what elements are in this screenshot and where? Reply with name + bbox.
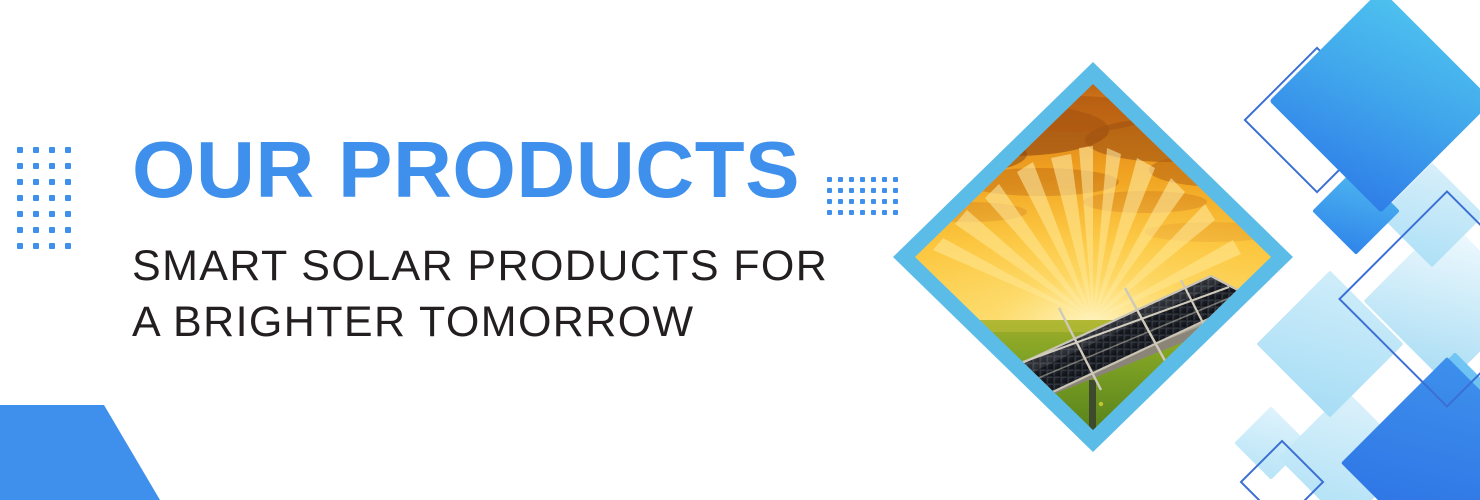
dot-icon (33, 227, 39, 233)
dot-icon (65, 163, 71, 169)
dot-icon (49, 243, 55, 249)
dot-icon (871, 177, 876, 182)
dot-icon (849, 210, 854, 215)
page-title: OUR PRODUCTS (132, 128, 842, 212)
dot-icon (871, 210, 876, 215)
dot-icon (860, 199, 865, 204)
dot-icon (33, 179, 39, 185)
dot-icon (65, 227, 71, 233)
dot-icon (871, 199, 876, 204)
dot-icon (882, 177, 887, 182)
dot-icon (49, 211, 55, 217)
dot-icon (65, 195, 71, 201)
dot-icon (860, 177, 865, 182)
dot-icon (49, 163, 55, 169)
dot-icon (882, 199, 887, 204)
dot-icon (49, 195, 55, 201)
dot-icon (65, 243, 71, 249)
promo-banner: OUR PRODUCTS SMART SOLAR PRODUCTS FOR A … (0, 0, 1480, 500)
dot-icon (882, 210, 887, 215)
dot-icon (65, 211, 71, 217)
dot-grid-left-decoration (17, 147, 81, 259)
dot-icon (33, 147, 39, 153)
dot-icon (33, 211, 39, 217)
dot-icon (849, 188, 854, 193)
dot-icon (49, 227, 55, 233)
subtitle: SMART SOLAR PRODUCTS FOR A BRIGHTER TOMO… (132, 238, 828, 350)
dot-icon (860, 188, 865, 193)
dot-icon (33, 163, 39, 169)
dot-icon (17, 227, 23, 233)
corner-trapezoid-decoration (0, 405, 160, 500)
dot-icon (17, 243, 23, 249)
dot-icon (17, 195, 23, 201)
dot-icon (849, 199, 854, 204)
dot-icon (65, 147, 71, 153)
dot-icon (65, 179, 71, 185)
dot-icon (33, 195, 39, 201)
text-block: OUR PRODUCTS SMART SOLAR PRODUCTS FOR A … (132, 128, 828, 350)
hero-diamond-image (893, 62, 1293, 452)
dot-icon (17, 163, 23, 169)
dot-icon (882, 188, 887, 193)
dot-icon (860, 210, 865, 215)
dot-icon (871, 188, 876, 193)
dot-icon (33, 243, 39, 249)
dot-icon (49, 147, 55, 153)
dot-icon (17, 211, 23, 217)
dot-icon (49, 179, 55, 185)
dot-icon (17, 147, 23, 153)
dot-icon (17, 179, 23, 185)
dot-icon (849, 177, 854, 182)
